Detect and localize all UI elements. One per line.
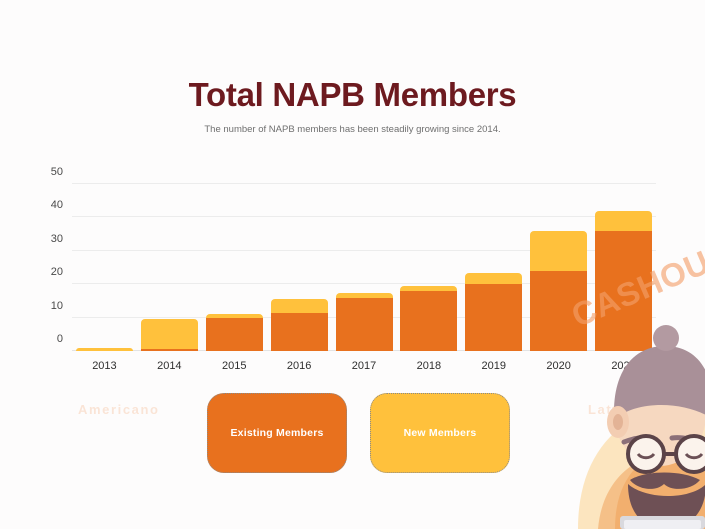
stacked-bar[interactable] [206, 314, 263, 351]
x-axis-tick-label: 2020 [546, 360, 570, 372]
ghost-label-right: Latte [588, 402, 627, 417]
x-axis-tick-label: 2021 [611, 360, 635, 372]
bar-segment-new-members[interactable] [595, 211, 652, 231]
y-axis-tick-label: 10 [51, 300, 63, 312]
stacked-bar[interactable] [336, 293, 393, 351]
bar-segment-new-members[interactable] [530, 231, 587, 271]
stacked-bar[interactable] [465, 273, 522, 351]
chart-canvas: Total NAPB Members The number of NAPB me… [0, 0, 705, 529]
bar-segment-new-members[interactable] [141, 319, 198, 349]
bar-segment-existing-members[interactable] [530, 271, 587, 351]
bar-segment-existing-members[interactable] [271, 313, 328, 351]
bar-group[interactable]: 2018 [396, 184, 461, 351]
page-title: Total NAPB Members [0, 76, 705, 114]
y-axis-tick-label: 20 [51, 266, 63, 278]
y-axis-tick-label: 0 [57, 333, 63, 345]
bar-segment-new-members[interactable] [76, 348, 133, 351]
bar-group[interactable]: 2016 [267, 184, 332, 351]
bar-group[interactable]: 2014 [137, 184, 202, 351]
bar-segment-new-members[interactable] [465, 273, 522, 285]
bar-segment-existing-members[interactable] [465, 284, 522, 351]
x-axis-tick-label: 2013 [92, 360, 116, 372]
y-axis-tick-label: 50 [51, 166, 63, 178]
bar-group[interactable]: 2020 [526, 184, 591, 351]
y-axis-tick-label: 30 [51, 233, 63, 245]
bar-group[interactable]: 2019 [461, 184, 526, 351]
x-axis-tick-label: 2019 [482, 360, 506, 372]
bar-group[interactable]: 2015 [202, 184, 267, 351]
bar-segment-existing-members[interactable] [206, 318, 263, 351]
stacked-bar[interactable] [400, 286, 457, 351]
bar-segment-existing-members[interactable] [595, 231, 652, 351]
legend-button-new-members[interactable]: New Members [370, 393, 510, 473]
stacked-bar[interactable] [271, 299, 328, 351]
chart-legend: Existing MembersNew Members [207, 393, 510, 473]
bar-segment-existing-members[interactable] [336, 298, 393, 351]
stacked-bar[interactable] [530, 231, 587, 351]
bar-segment-new-members[interactable] [271, 299, 328, 312]
ghost-label-left: Americano [78, 402, 160, 417]
x-axis-tick-label: 2014 [157, 360, 181, 372]
x-axis-tick-label: 2016 [287, 360, 311, 372]
bar-segment-existing-members[interactable] [400, 291, 457, 351]
plot-area: 01020304050 2013201420152016201720182019… [72, 184, 656, 351]
bars-group: 201320142015201620172018201920202021 [72, 184, 656, 351]
y-axis-tick-label: 40 [51, 199, 63, 211]
x-axis-tick-label: 2017 [352, 360, 376, 372]
x-axis-tick-label: 2018 [417, 360, 441, 372]
stacked-bar[interactable] [141, 319, 198, 351]
bar-group[interactable]: 2021 [591, 184, 656, 351]
stacked-bar[interactable] [595, 211, 652, 351]
bar-group[interactable]: 2017 [332, 184, 397, 351]
legend-button-existing-members[interactable]: Existing Members [207, 393, 347, 473]
bar-group[interactable]: 2013 [72, 184, 137, 351]
x-axis-tick-label: 2015 [222, 360, 246, 372]
stacked-bar[interactable] [76, 348, 133, 351]
chart-subtitle: The number of NAPB members has been stea… [0, 124, 705, 135]
bar-segment-existing-members[interactable] [141, 349, 198, 351]
